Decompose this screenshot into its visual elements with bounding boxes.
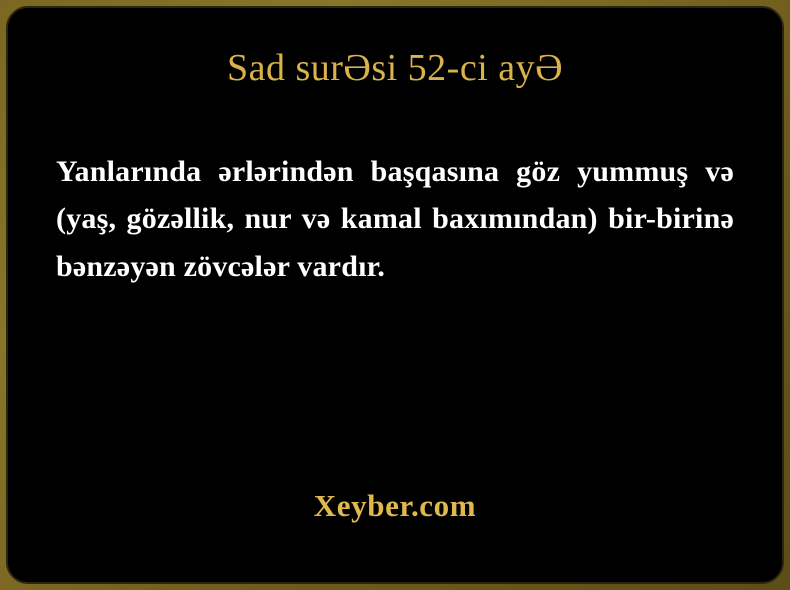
page-title: Sad surƏsi 52-ci ayƏ — [48, 46, 742, 90]
site-credit: Xeyber.com — [8, 488, 782, 524]
inner-border: Sad surƏsi 52-ci ayƏ Yanlarında ərlərind… — [6, 6, 784, 584]
verse-text: Yanlarında ərlərindən başqasına göz yumm… — [48, 148, 742, 290]
image-frame: Sad surƏsi 52-ci ayƏ Yanlarında ərlərind… — [0, 0, 790, 590]
quote-card: Sad surƏsi 52-ci ayƏ Yanlarında ərlərind… — [8, 8, 782, 582]
